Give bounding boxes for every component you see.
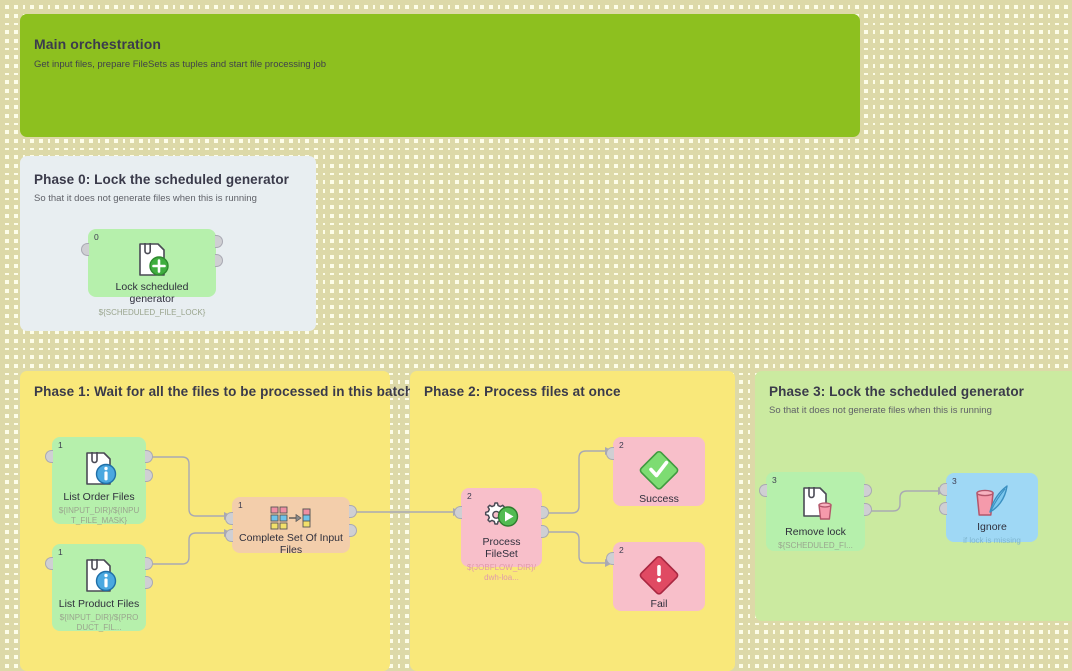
node-badge: 3 <box>952 476 957 486</box>
node-lock-scheduled-generator[interactable]: 0 Lock scheduled generator ${SCHEDULED_F… <box>88 229 216 297</box>
node-badge: 3 <box>772 475 777 485</box>
node-label: Fail <box>646 598 673 610</box>
node-badge: 1 <box>58 547 63 557</box>
input-port[interactable] <box>939 483 947 496</box>
input-port[interactable] <box>45 450 53 463</box>
node-badge: 2 <box>619 545 624 555</box>
group-main-title: Main orchestration <box>34 36 161 52</box>
input-port[interactable] <box>81 243 89 256</box>
alert-diamond-icon <box>637 553 681 597</box>
trash-feather-icon <box>969 484 1015 520</box>
gear-play-icon <box>482 499 522 535</box>
group-phase3-title: Phase 3: Lock the scheduled generator <box>769 384 1024 399</box>
node-label: Process FileSet <box>461 536 542 560</box>
tuple-merge-icon <box>269 505 313 531</box>
document-info-icon <box>79 448 119 490</box>
node-badge: 1 <box>58 440 63 450</box>
node-subtitle: ${JOBFLOW_DIR}/dwh-loa... <box>461 563 542 583</box>
workflow-canvas[interactable]: Main orchestration Get input files, prep… <box>0 0 1072 666</box>
node-label: Lock scheduled generator <box>88 281 216 305</box>
input-port[interactable] <box>606 447 614 460</box>
input-port-2[interactable] <box>225 529 233 542</box>
check-diamond-icon <box>637 448 681 492</box>
document-add-icon <box>131 240 173 280</box>
node-badge: 2 <box>467 491 472 501</box>
node-list-product-files[interactable]: 1 List Product Files ${INPUT_DIR}/${PROD… <box>52 544 146 631</box>
node-badge: 1 <box>238 500 243 510</box>
document-info-icon <box>79 555 119 597</box>
node-subtitle: ${SCHEDULED_FILE_LOCK} <box>93 308 212 318</box>
input-port-2[interactable] <box>939 502 947 515</box>
input-port[interactable] <box>454 506 462 519</box>
group-phase3-subtitle: So that it does not generate files when … <box>769 405 992 416</box>
node-subtitle: if lock is missing <box>957 536 1027 546</box>
group-phase1-title: Phase 1: Wait for all the files to be pr… <box>34 384 413 399</box>
node-badge: 2 <box>619 440 624 450</box>
node-label: List Product Files <box>54 598 145 610</box>
input-port-1[interactable] <box>225 512 233 525</box>
node-label: List Order Files <box>58 491 139 503</box>
node-success[interactable]: 2 Success <box>613 437 705 506</box>
group-phase2-title: Phase 2: Process files at once <box>424 384 621 399</box>
node-process-fileset[interactable]: 2 Process FileSet ${JOBFLOW_DIR}/dwh-loa… <box>461 488 542 567</box>
group-phase-2[interactable]: Phase 2: Process files at once <box>410 371 735 671</box>
node-remove-lock[interactable]: 3 Remove lock ${SCHEDULED_FI... <box>766 472 865 551</box>
group-main-orchestration[interactable]: Main orchestration Get input files, prep… <box>20 14 860 137</box>
node-badge: 0 <box>94 232 99 242</box>
node-ignore[interactable]: 3 Ignore if lock is missing <box>946 473 1038 542</box>
node-subtitle: ${INPUT_DIR}/${INPUT_FILE_MASK} <box>52 506 146 526</box>
document-trash-icon <box>795 483 837 525</box>
group-phase0-subtitle: So that it does not generate files when … <box>34 193 257 204</box>
node-label: Ignore <box>972 521 1012 533</box>
node-label: Complete Set Of Input Files <box>232 532 350 556</box>
group-phase0-title: Phase 0: Lock the scheduled generator <box>34 172 289 187</box>
node-subtitle: ${SCHEDULED_FI... <box>772 541 859 551</box>
input-port[interactable] <box>45 557 53 570</box>
node-subtitle: ${INPUT_DIR}/${PRODUCT_FIL... <box>52 613 146 633</box>
node-label: Success <box>634 493 684 505</box>
group-main-subtitle: Get input files, prepare FileSets as tup… <box>34 59 326 70</box>
node-list-order-files[interactable]: 1 List Order Files ${INPUT_DIR}/${INPUT_… <box>52 437 146 524</box>
node-label: Remove lock <box>780 526 851 538</box>
node-fail[interactable]: 2 Fail <box>613 542 705 611</box>
node-complete-set-of-input-files[interactable]: 1 Complete Set Of Input Files <box>232 497 350 553</box>
input-port[interactable] <box>759 484 767 497</box>
input-port[interactable] <box>606 552 614 565</box>
